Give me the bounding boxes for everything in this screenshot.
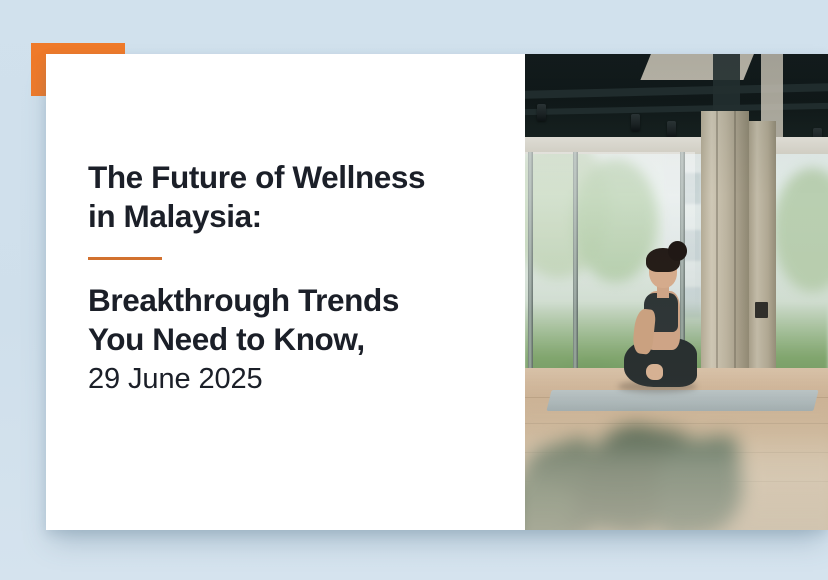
photo-window-head-trim — [525, 137, 828, 154]
slide-card: The Future of Wellness in Malaysia: Brea… — [46, 54, 828, 530]
title-stack: The Future of Wellness in Malaysia: Brea… — [88, 158, 501, 399]
hero-photo — [525, 54, 828, 530]
text-pane: The Future of Wellness in Malaysia: Brea… — [46, 54, 525, 530]
photo-wall-socket — [755, 302, 768, 318]
photo-concrete-column — [749, 121, 776, 388]
subtitle: Breakthrough Trends You Need to Know, — [88, 281, 501, 358]
page-title: The Future of Wellness in Malaysia: — [88, 158, 501, 235]
photo-ceiling-spotlight — [631, 114, 640, 131]
photo-meditating-woman — [616, 244, 743, 406]
photo-ceiling-spotlight — [537, 104, 546, 121]
event-date: 29 June 2025 — [88, 361, 501, 399]
orange-divider-rule — [88, 257, 162, 260]
photo-ceiling-spotlight — [667, 121, 676, 138]
slide-canvas: The Future of Wellness in Malaysia: Brea… — [0, 0, 828, 580]
photo-ceiling-slab — [525, 54, 828, 137]
